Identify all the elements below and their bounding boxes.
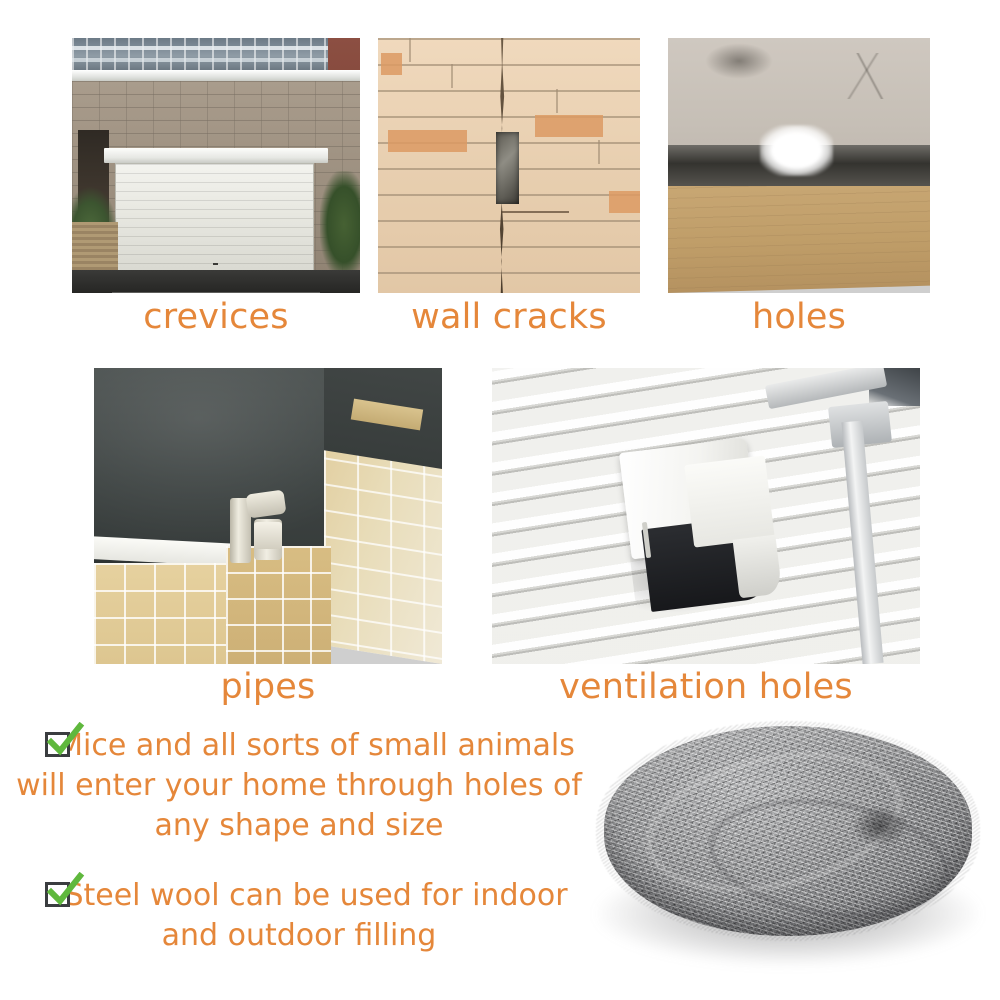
- garage-door-header: [104, 148, 329, 163]
- benefit-2-line-2: and outdoor filling: [14, 916, 584, 956]
- brick-accent-1: [388, 130, 467, 152]
- benefits-list: Mice and all sorts of small animals will…: [14, 726, 584, 986]
- benefit-item-1: Mice and all sorts of small animals will…: [14, 726, 584, 846]
- garage-door-panel: [115, 163, 314, 275]
- brick-accent-4: [609, 191, 640, 213]
- infographic-canvas: crevices wall cracks holes: [0, 0, 1000, 1000]
- check-mark-icon: [45, 872, 85, 912]
- pipe-cap: [254, 522, 282, 549]
- garage-door-handle: [213, 263, 219, 265]
- caption-wall-cracks: wall cracks: [378, 297, 640, 337]
- garage-balcony-rail-lower: [72, 58, 360, 62]
- photo-pipes: [94, 368, 442, 664]
- caption-holes: holes: [668, 297, 930, 337]
- caption-ventilation-holes: ventilation holes: [492, 667, 920, 707]
- photo-wall-cracks: [378, 38, 640, 293]
- hole-wall-smudge: [705, 43, 773, 79]
- steel-wool-fiber-texture: [596, 721, 980, 941]
- vent-hood-top-face: [684, 455, 775, 547]
- benefit-1-line-2: will enter your home through holes of: [14, 766, 584, 806]
- hole-wood-beam: [668, 171, 930, 293]
- brick-accent-3: [381, 53, 402, 75]
- photo-crevices: [72, 38, 360, 293]
- caption-pipes: pipes: [94, 667, 442, 707]
- benefit-item-2: Steel wool can be used for indoor and ou…: [14, 876, 584, 956]
- vent-hood-lip: [733, 534, 783, 598]
- steel-wool-roll-image: [588, 716, 988, 966]
- wall-crack-hole: [496, 132, 520, 203]
- brick-accent-2: [535, 115, 603, 137]
- benefit-1-line-3: any shape and size: [14, 806, 584, 846]
- check-mark-icon: [45, 722, 85, 762]
- garage-driveway: [72, 270, 360, 293]
- garage-plant-right: [320, 171, 360, 278]
- hole-daylight-glow: [760, 125, 833, 176]
- garage-white-lintel: [72, 70, 360, 81]
- photo-ventilation-holes: [492, 368, 920, 664]
- pipes-tiled-wall-middle: [226, 546, 330, 664]
- benefit-1-line-1: Mice and all sorts of small animals: [14, 726, 584, 766]
- wall-crack-step: [501, 211, 569, 213]
- hole-wall-scratches: [830, 53, 914, 99]
- benefit-2-line-1: Steel wool can be used for indoor: [14, 876, 584, 916]
- photo-holes: [668, 38, 930, 293]
- caption-crevices: crevices: [72, 297, 360, 337]
- garage-balcony-rail: [72, 46, 360, 50]
- garage-balcony: [72, 38, 360, 71]
